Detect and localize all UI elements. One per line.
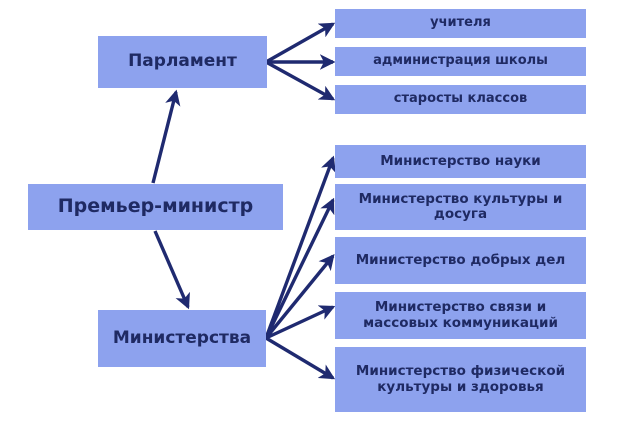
edge-ministries-to-good-deeds <box>266 256 333 338</box>
edge-parliament-to-class-heads <box>266 62 333 99</box>
node-ministry-good-deeds[interactable]: Министерство добрых дел <box>335 237 586 284</box>
node-teachers-label: учителя <box>339 16 582 31</box>
node-ministry-good-deeds-label: Министерство добрых дел <box>339 253 582 268</box>
node-parliament[interactable]: Парламент <box>98 36 267 88</box>
edge-ministries-to-sport <box>266 338 333 378</box>
node-ministry-communications[interactable]: Министерство связи и массовых коммуникац… <box>335 292 586 339</box>
node-ministry-science-label: Министерство науки <box>339 154 582 169</box>
diagram-canvas: Парламент Премьер-министр Министерства у… <box>0 0 623 423</box>
node-ministries-label: Министерства <box>102 329 262 348</box>
edge-prime-to-parliament <box>153 92 176 183</box>
edge-prime-to-ministries <box>155 231 188 307</box>
node-ministries[interactable]: Министерства <box>98 310 266 367</box>
node-prime-minister-label: Премьер-министр <box>32 196 279 217</box>
node-ministry-culture[interactable]: Министерство культуры и досуга <box>335 184 586 230</box>
node-teachers[interactable]: учителя <box>335 9 586 38</box>
node-ministry-sport-label: Министерство физической культуры и здоро… <box>339 364 582 394</box>
edge-parliament-to-teachers <box>266 24 333 62</box>
node-ministry-science[interactable]: Министерство науки <box>335 145 586 178</box>
node-school-administration-label: администрация школы <box>339 54 582 69</box>
node-school-administration[interactable]: администрация школы <box>335 47 586 76</box>
node-class-heads-label: старосты классов <box>339 92 582 107</box>
node-ministry-communications-label: Министерство связи и массовых коммуникац… <box>339 300 582 330</box>
node-ministry-culture-label: Министерство культуры и досуга <box>339 192 582 222</box>
node-parliament-label: Парламент <box>102 52 263 71</box>
node-prime-minister[interactable]: Премьер-министр <box>28 184 283 230</box>
node-class-heads[interactable]: старосты классов <box>335 85 586 114</box>
node-ministry-sport[interactable]: Министерство физической культуры и здоро… <box>335 347 586 412</box>
edge-ministries-to-communications <box>266 307 333 338</box>
